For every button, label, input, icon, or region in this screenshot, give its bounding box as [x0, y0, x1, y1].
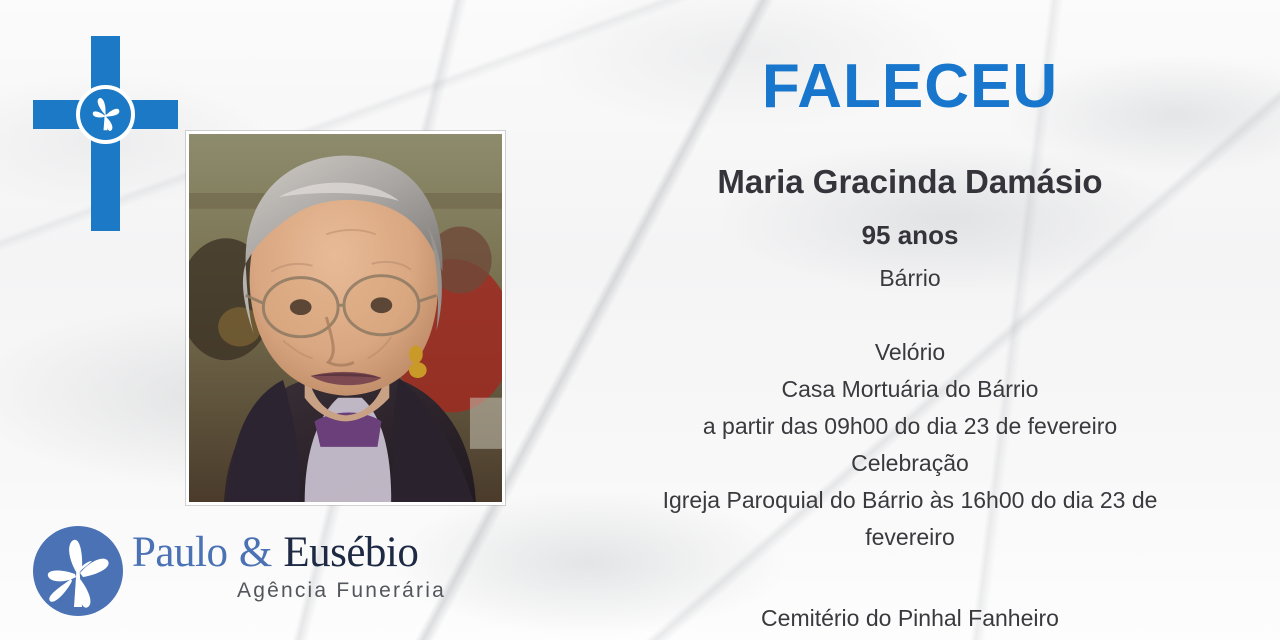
service-line: Velório: [570, 334, 1250, 371]
service-line: fevereiro: [570, 519, 1250, 556]
service-line: Casa Mortuária do Bárrio: [570, 371, 1250, 408]
funeral-announcement-card: FALECEU Maria Gracinda Damásio 95 anos B…: [0, 0, 1280, 640]
burial-line: Cemitério do Pinhal Fanheiro: [570, 600, 1250, 637]
burial-details: Cemitério do Pinhal Fanheiro: [570, 600, 1250, 637]
portrait-frame: [186, 131, 505, 505]
deceased-name: Maria Gracinda Damásio: [560, 162, 1260, 202]
service-details: Velório Casa Mortuária do Bárrio a parti…: [570, 334, 1250, 556]
faleceu-heading: FALECEU: [560, 56, 1260, 118]
butterfly-icon: [76, 85, 135, 144]
logo-word-ampersand: &: [239, 529, 272, 576]
cross-icon: [33, 36, 178, 231]
logo-word-paulo: Paulo: [132, 529, 227, 576]
deceased-locality: Bárrio: [560, 265, 1260, 293]
notice-column: FALECEU Maria Gracinda Damásio 95 anos B…: [560, 0, 1260, 640]
butterfly-icon: [28, 521, 128, 621]
service-line: a partir das 09h00 do dia 23 de fevereir…: [570, 408, 1250, 445]
logo-text-block: Paulo & Eusébio Agência Funerária: [132, 527, 448, 604]
logo-tagline: Agência Funerária: [132, 578, 448, 604]
logo-wordmark: Paulo & Eusébio: [132, 527, 448, 578]
agency-logo: Paulo & Eusébio Agência Funerária: [28, 519, 448, 625]
service-line: Celebração: [570, 445, 1250, 482]
portrait-photo: [189, 134, 502, 502]
service-line: Igreja Paroquial do Bárrio às 16h00 do d…: [570, 482, 1250, 519]
deceased-age: 95 anos: [560, 220, 1260, 251]
logo-word-eusebio: Eusébio: [283, 529, 418, 576]
